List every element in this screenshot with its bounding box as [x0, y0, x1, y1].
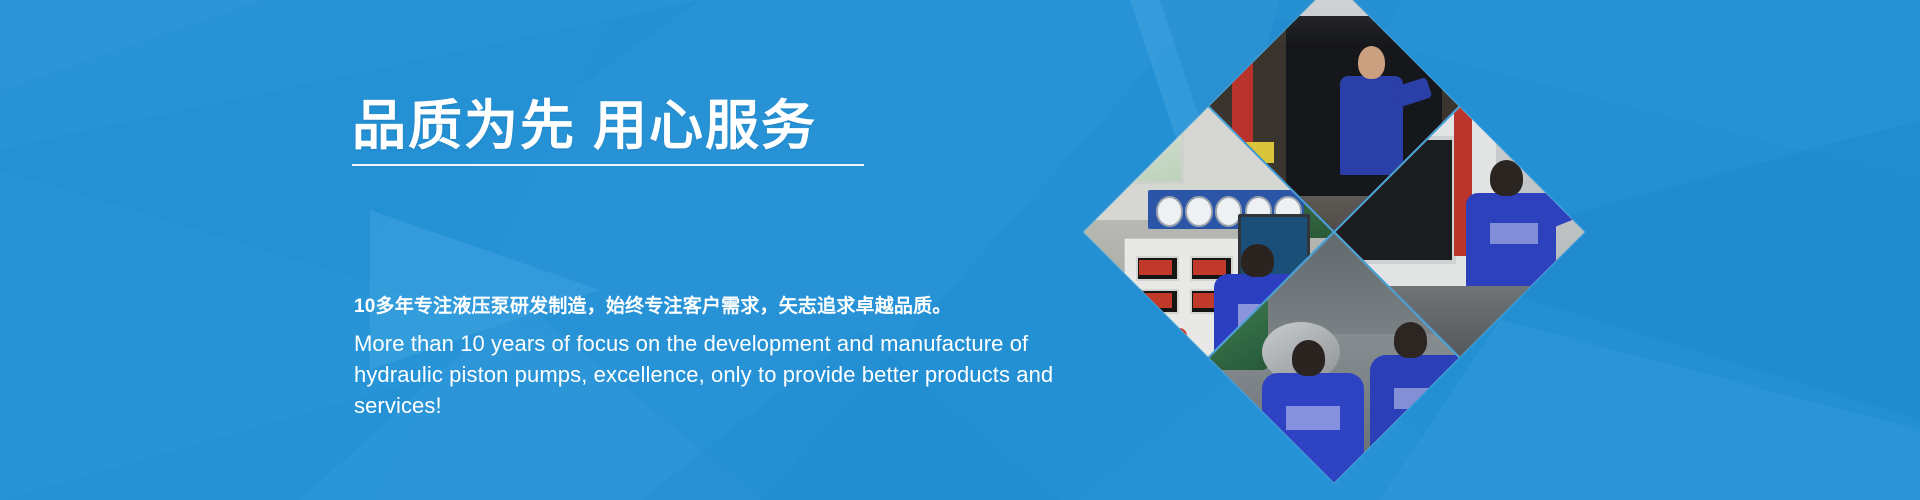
subtitle-english: More than 10 years of focus on the devel…	[354, 328, 1114, 422]
promo-banner: 品质为先 用心服务 10多年专注液压泵研发制造，始终专注客户需求，矢志追求卓越品…	[0, 0, 1920, 500]
factory-photo-collage	[1078, 0, 1578, 500]
headline-group: 品质为先 用心服务	[352, 98, 864, 166]
headline-underline	[352, 164, 864, 166]
background-polygon-pattern	[0, 0, 1920, 500]
page-title: 品质为先 用心服务	[352, 98, 864, 155]
subtitle-chinese: 10多年专注液压泵研发制造，始终专注客户需求，矢志追求卓越品质。	[354, 291, 952, 318]
